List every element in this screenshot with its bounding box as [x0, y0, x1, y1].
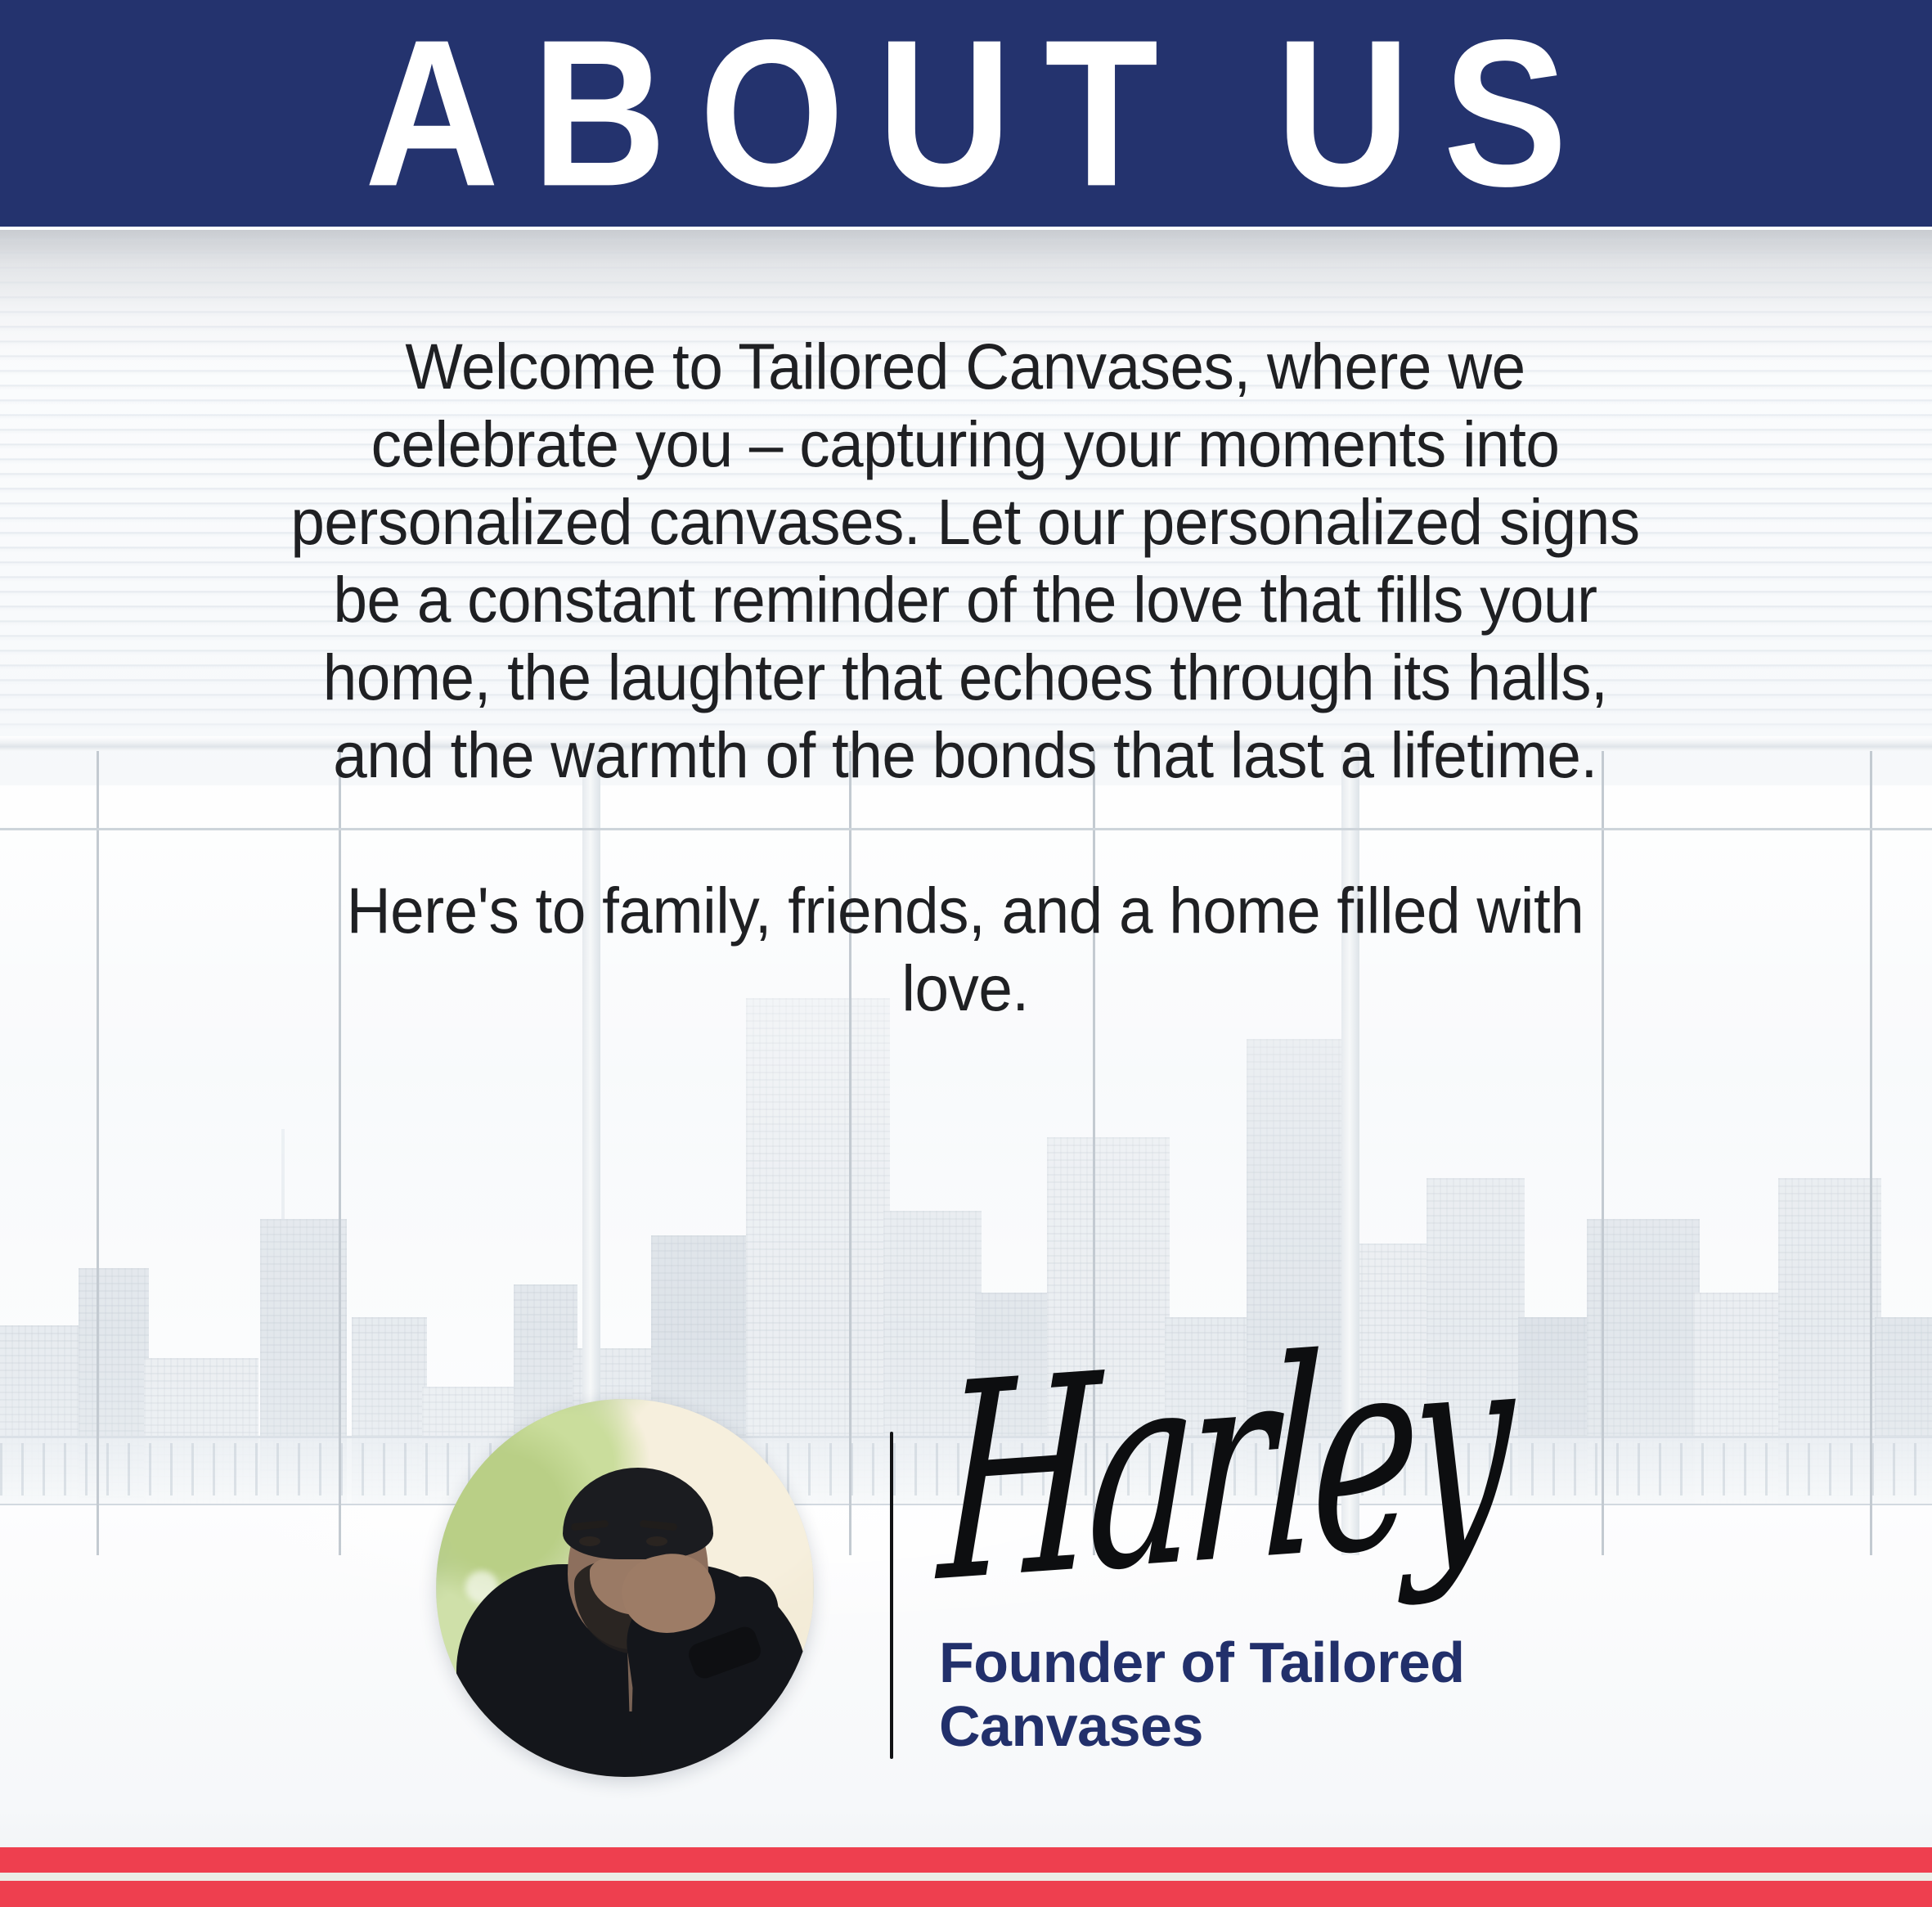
avatar [436, 1399, 814, 1777]
footer-stripe-lower [0, 1881, 1932, 1907]
avatar-eye-right [646, 1536, 667, 1546]
paragraph-intro: Welcome to Tailored Canvases, where we c… [285, 327, 1645, 794]
signature-handwriting: Harley [936, 1310, 1507, 1620]
footer-stripe-upper [0, 1847, 1932, 1873]
about-copy: Welcome to Tailored Canvases, where we c… [285, 327, 1645, 1027]
founder-role-line-2: Canvases [939, 1694, 1561, 1758]
founder-role: Founder of Tailored Canvases [939, 1630, 1561, 1758]
footer-stripe-gap [0, 1873, 1932, 1881]
avatar-eye-left [579, 1536, 600, 1546]
founder-role-line-1: Founder of Tailored [939, 1630, 1561, 1694]
header-divider [0, 227, 1932, 230]
about-us-poster: ABOUT US Welcome to Tailored Canvases, w… [0, 0, 1932, 1907]
page-header: ABOUT US [0, 0, 1932, 227]
paragraph-closing: Here's to family, friends, and a home fi… [285, 871, 1645, 1027]
paragraph-spacer [285, 794, 1645, 871]
signature-divider [890, 1432, 893, 1759]
page-title: ABOUT US [332, 9, 1601, 218]
